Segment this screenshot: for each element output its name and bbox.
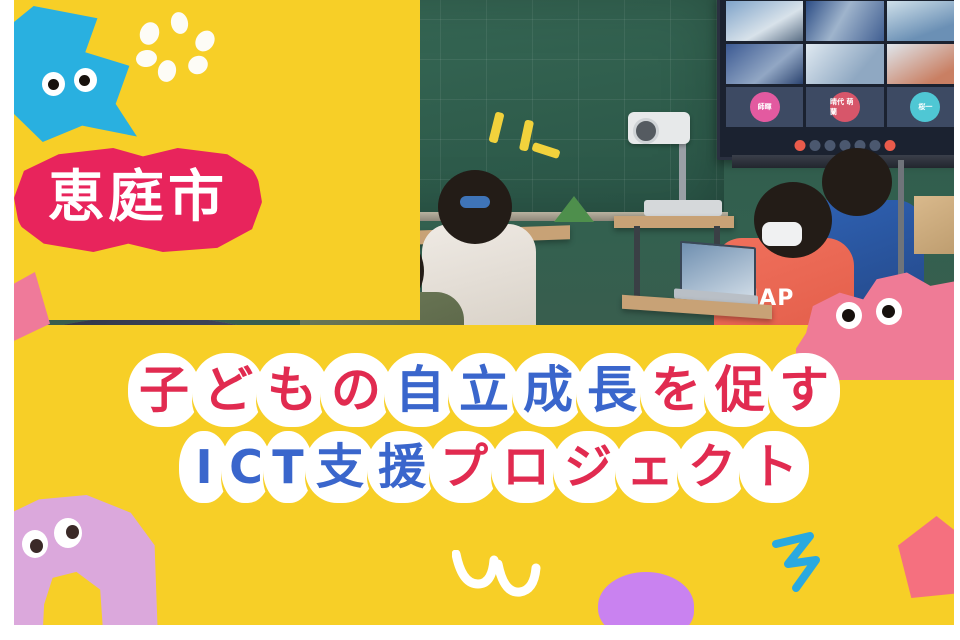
title-char-glyph: I [195, 444, 212, 490]
title-char: ど [196, 352, 260, 428]
avatar: 桜一 [910, 92, 940, 122]
title-char-glyph: 促 [715, 365, 765, 415]
title-char: 成 [516, 352, 580, 428]
video-tile [726, 1, 803, 41]
title-char-glyph: C [229, 444, 263, 490]
title-char-glyph: 長 [587, 365, 637, 415]
student-head [822, 148, 892, 216]
title-char: ジ [557, 430, 619, 504]
edge-margin-bottom [0, 625, 960, 640]
title-char: ロ [495, 430, 557, 504]
title-char-glyph: 成 [523, 365, 573, 415]
title-char: も [260, 352, 324, 428]
participants-icon [825, 140, 836, 151]
video-tile: 師暉 [726, 87, 803, 127]
desk-leg [634, 226, 640, 304]
avatar: 晴代 萌蘭 [830, 92, 860, 122]
pupil [66, 525, 79, 539]
title-char-glyph: ど [203, 365, 253, 415]
banner-root: 師暉 晴代 萌蘭 桜一 [0, 0, 960, 640]
title-char-glyph: T [272, 444, 303, 490]
student-head [754, 182, 832, 258]
title-char: C [225, 430, 267, 504]
pink-mascot-eye-left [836, 302, 862, 329]
pupil [30, 539, 43, 553]
lavender-mascot-eye-right [54, 518, 82, 548]
city-badge-label: 恵庭市 [48, 170, 228, 230]
end-call-icon [885, 140, 896, 151]
blue-mascot-eye-right [74, 68, 97, 92]
microphone-icon [795, 140, 806, 151]
title-char: 促 [708, 352, 772, 428]
video-tile [726, 44, 803, 84]
white-squiggle-icon [452, 550, 562, 606]
title-char-glyph: ロ [502, 443, 550, 491]
title-char: I [183, 430, 225, 504]
pink-mascot-eye-right [876, 298, 902, 325]
video-tile: 桜一 [887, 87, 960, 127]
camera-lens-icon [633, 118, 659, 144]
edge-margin-left [0, 0, 14, 640]
video-tile [887, 44, 960, 84]
title-char: 子 [132, 352, 196, 428]
title-char: 自 [388, 352, 452, 428]
pupil [79, 75, 90, 86]
title-line-2: ICT支援プロジェクト [0, 430, 960, 504]
edge-margin-right [954, 0, 960, 640]
title-char: の [324, 352, 388, 428]
title-char: ェ [619, 430, 681, 504]
title-char-glyph: 立 [459, 365, 509, 415]
title-char: 立 [452, 352, 516, 428]
title-line-1: 子どもの自立成長を促す [0, 352, 960, 428]
hair-band [460, 196, 490, 208]
title-char: を [644, 352, 708, 428]
title-char: ク [681, 430, 743, 504]
title-char-glyph: 支 [316, 443, 364, 491]
tripod-pole [898, 160, 904, 280]
video-conference-display: 師暉 晴代 萌蘭 桜一 [717, 0, 960, 160]
blue-zigzag-icon [770, 530, 850, 594]
more-icon [870, 140, 881, 151]
video-call-grid: 師暉 晴代 萌蘭 桜一 [726, 1, 960, 127]
video-tile [887, 1, 960, 41]
pupil [48, 79, 59, 90]
avatar: 師暉 [750, 92, 780, 122]
city-badge: 恵庭市 [14, 148, 262, 252]
face-mask [762, 222, 802, 246]
main-title: 子どもの自立成長を促す ICT支援プロジェクト [0, 352, 960, 504]
document-camera-base [644, 200, 722, 216]
title-char-glyph: プ [440, 443, 488, 491]
video-tile [806, 44, 883, 84]
title-char-glyph: ジ [564, 443, 612, 491]
title-char-glyph: 自 [395, 365, 445, 415]
pupil [842, 309, 855, 322]
title-char: ト [743, 430, 805, 504]
title-char-glyph: 援 [378, 443, 426, 491]
title-char: 支 [309, 430, 371, 504]
title-char-glyph: も [267, 365, 317, 415]
title-char: 援 [371, 430, 433, 504]
title-char-glyph: の [331, 365, 381, 415]
title-char-glyph: 子 [139, 365, 189, 415]
title-char: 長 [580, 352, 644, 428]
title-char: す [772, 352, 836, 428]
title-char-glyph: ト [750, 443, 798, 491]
lavender-mascot-eye-left [22, 530, 48, 558]
title-char: T [267, 430, 309, 504]
title-char-glyph: ク [688, 443, 736, 491]
title-char-glyph: す [779, 365, 829, 415]
video-tile: 晴代 萌蘭 [806, 87, 883, 127]
video-tile [806, 1, 883, 41]
title-char-glyph: ェ [626, 443, 674, 491]
pupil [882, 305, 895, 318]
title-char: プ [433, 430, 495, 504]
title-char-glyph: を [651, 365, 701, 415]
blue-mascot-eye-left [42, 72, 65, 96]
camera-icon [810, 140, 821, 151]
